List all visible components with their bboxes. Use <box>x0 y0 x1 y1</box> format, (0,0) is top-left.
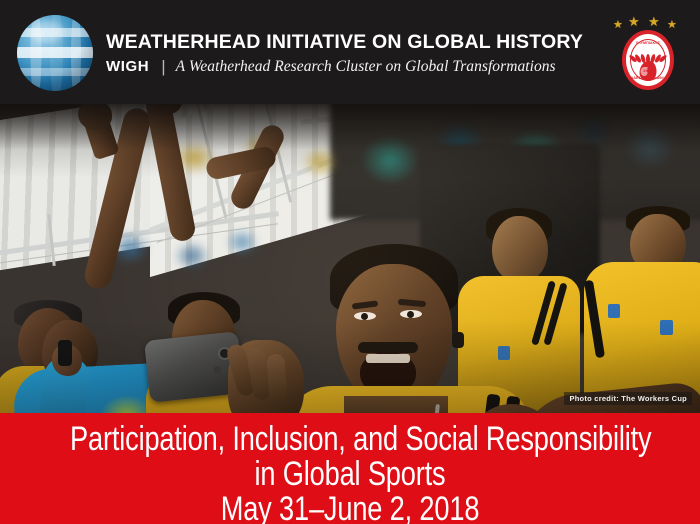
star-icon: ★ <box>628 15 640 28</box>
jersey-badge <box>498 346 510 360</box>
main-subject-eye <box>354 312 376 320</box>
globe-shading <box>17 15 93 91</box>
olympiacos-crest-icon: ΟΛΥΜΠΙΑΚΟΣ ΣΥΝΔΕΣΜΟΣ ΦΙΛΑΘΛΩΝ 1925 <box>622 30 674 90</box>
camera-flash-icon <box>214 366 221 373</box>
event-poster: WEATHERHEAD INITIATIVE ON GLOBAL HISTORY… <box>0 0 700 524</box>
finger <box>266 353 287 404</box>
event-title-banner: Participation, Inclusion, and Social Res… <box>0 413 700 524</box>
main-subject-neck <box>344 396 448 413</box>
event-dates: May 31–June 2, 2018 <box>70 491 630 524</box>
jersey-badge <box>660 320 673 335</box>
crest-ring-text-top: ΟΛΥΜΠΙΑΚΟΣ <box>636 41 660 45</box>
subtitle-divider: | <box>161 57 165 77</box>
star-icon: ★ <box>613 19 623 32</box>
photo-credit: Photo credit: The Workers Cup <box>564 392 692 405</box>
organization-acronym: WIGH <box>106 58 149 75</box>
event-title-line-1: Participation, Inclusion, and Social Res… <box>70 421 630 457</box>
spectator-face <box>492 216 548 282</box>
event-title-line-2: in Global Sports <box>70 457 630 491</box>
main-subject-teeth <box>366 354 410 363</box>
photo-top-shadow <box>0 104 700 150</box>
event-photo: Photo credit: The Workers Cup <box>0 104 700 413</box>
header-text-block: WEATHERHEAD INITIATIVE ON GLOBAL HISTORY… <box>106 30 583 76</box>
crest-stars: ★ ★ ★ ★ <box>611 14 685 30</box>
organization-title: WEATHERHEAD INITIATIVE ON GLOBAL HISTORY <box>106 30 583 54</box>
crest-year: 1925 <box>643 68 653 73</box>
star-icon: ★ <box>648 15 660 28</box>
globe-icon <box>17 15 93 91</box>
site-header: WEATHERHEAD INITIATIVE ON GLOBAL HISTORY… <box>0 0 700 104</box>
organization-subtitle: WIGH | A Weatherhead Research Cluster on… <box>106 56 583 76</box>
weatherhead-logo[interactable] <box>17 15 93 91</box>
main-subject-eye <box>400 310 422 318</box>
olympiacos-logo[interactable]: ★ ★ ★ ★ ΟΛΥΜΠΙΑΚΟΣ ΣΥΝΔΕΣΜΟΣ ΦΙΛΑΘΛΩΝ <box>608 14 688 94</box>
earbud-icon <box>452 332 464 348</box>
jersey-badge <box>608 304 620 318</box>
star-icon: ★ <box>667 19 677 32</box>
organization-tagline: A Weatherhead Research Cluster on Global… <box>176 58 556 76</box>
mobile-phone-icon <box>58 340 72 366</box>
